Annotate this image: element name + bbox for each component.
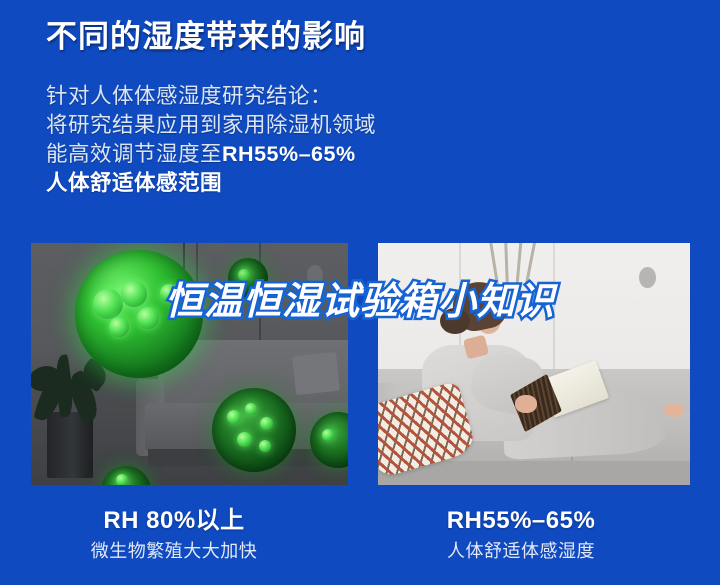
- microbe-bump: [259, 440, 271, 452]
- microbe-bump: [116, 474, 128, 485]
- microbe-bump: [237, 432, 252, 447]
- page-title: 不同的湿度带来的影响: [46, 18, 366, 55]
- caption-left-subtext: 微生物繁殖大大加快: [0, 538, 348, 564]
- microbe-bump: [227, 410, 241, 424]
- caption-right-headline: RH55%–65%: [347, 506, 695, 536]
- microbe-bump: [322, 429, 334, 441]
- intro-text-block: 针对人体体感湿度研究结论： 将研究结果应用到家用除湿机领域 能高效调节湿度至RH…: [46, 82, 376, 198]
- microbe-sphere: [212, 388, 296, 472]
- microbe-sphere: [101, 466, 151, 485]
- microbe-bump: [260, 417, 273, 430]
- intro-line-3: 能高效调节湿度至RH55%–65%: [46, 140, 376, 169]
- intro-line-1: 针对人体体感湿度研究结论：: [46, 82, 376, 111]
- caption-right: RH55%–65% 人体舒适体感湿度: [347, 506, 695, 564]
- poster-root: 不同的湿度带来的影响 针对人体体感湿度研究结论： 将研究结果应用到家用除湿机领域…: [0, 0, 720, 585]
- intro-line-3-prefix: 能高效调节湿度至: [46, 142, 222, 166]
- caption-right-subtext: 人体舒适体感湿度: [347, 538, 695, 564]
- person-foot: [664, 403, 684, 417]
- intro-line-2: 将研究结果应用到家用除湿机领域: [46, 111, 376, 140]
- overlay-headline: 恒温恒湿试验箱小知识: [0, 270, 720, 325]
- sofa-cushion: [292, 352, 340, 395]
- caption-left-headline: RH 80%以上: [0, 506, 348, 536]
- microbe-bump: [245, 403, 257, 415]
- intro-line-4: 人体舒适体感范围: [46, 169, 376, 198]
- intro-line-3-emphasis: RH55%–65%: [222, 142, 356, 166]
- caption-left: RH 80%以上 微生物繁殖大大加快: [0, 506, 348, 564]
